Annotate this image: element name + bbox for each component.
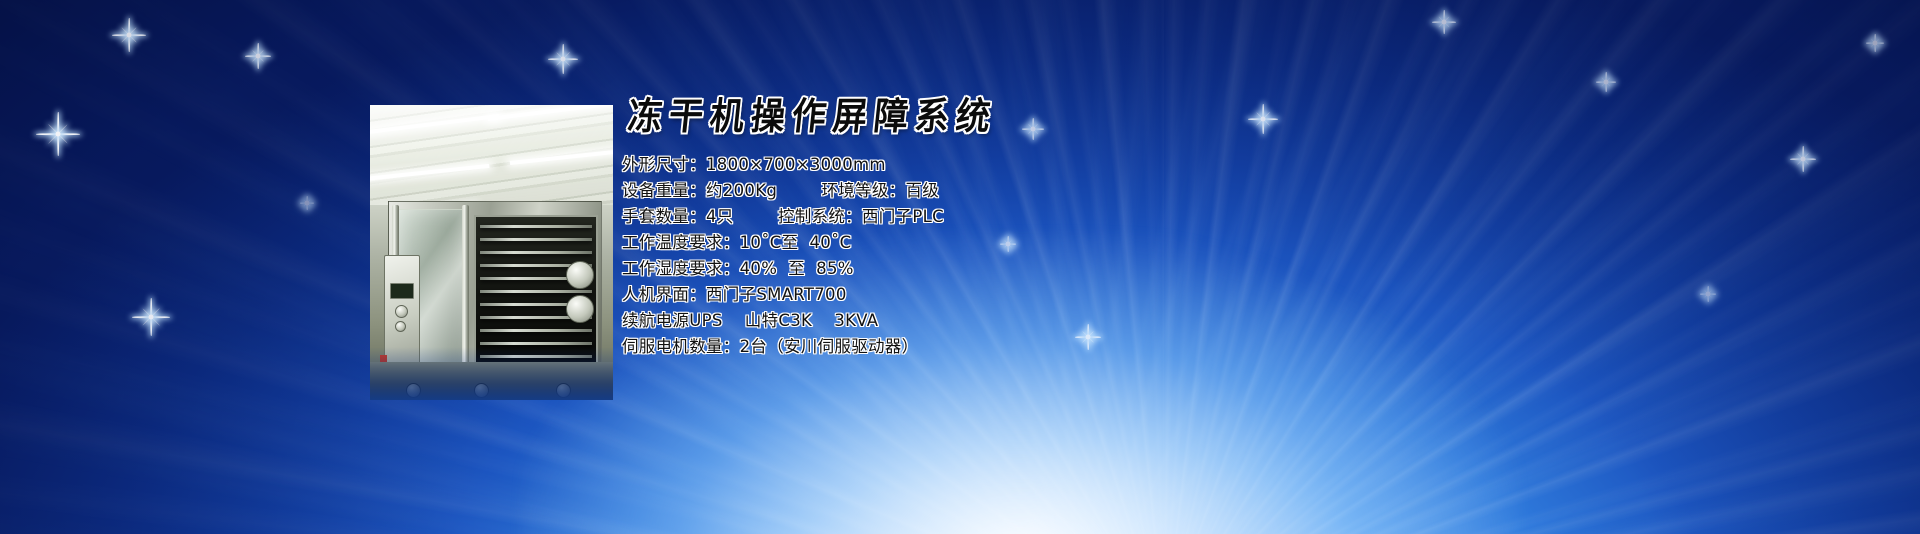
product-photo <box>370 105 613 400</box>
photo-control-knob <box>395 321 406 332</box>
photo-control-screen <box>390 283 414 299</box>
spec-list: 外形尺寸：1800×700×3000mm设备重量：约200Kg 环境等级：百级手… <box>622 152 1322 360</box>
spec-line-gloves-and-plc: 手套数量：4只 控制系统：西门子PLC <box>622 204 1322 230</box>
spec-line-weight-and-class: 设备重量：约200Kg 环境等级：百级 <box>622 178 1322 204</box>
photo-port-door <box>566 295 594 323</box>
photo-control-knob <box>395 305 408 318</box>
spec-line-servo-motors: 伺服电机数量：2台（安川伺服驱动器） <box>622 334 1322 360</box>
spec-line-hmi: 人机界面：西门子SMART700 <box>622 282 1322 308</box>
spec-line-temperature: 工作温度要求：10˚C至 40˚C <box>622 230 1322 256</box>
spec-line-dimensions: 外形尺寸：1800×700×3000mm <box>622 152 1322 178</box>
photo-shelf <box>480 329 593 332</box>
product-banner: 冻干机操作屏障系统 外形尺寸：1800×700×3000mm设备重量：约200K… <box>0 0 1920 534</box>
photo-shelf <box>480 290 593 293</box>
spec-line-ups: 续航电源UPS 山特C3K 3KVA <box>622 308 1322 334</box>
photo-shelf <box>480 238 593 241</box>
photo-bottom-fade <box>370 347 613 400</box>
photo-shelf <box>480 225 593 228</box>
spec-line-humidity: 工作湿度要求：40% 至 85% <box>622 256 1322 282</box>
text-block: 冻干机操作屏障系统 外形尺寸：1800×700×3000mm设备重量：约200K… <box>622 100 1322 360</box>
photo-port-door <box>566 261 594 289</box>
page-title: 冻干机操作屏障系统 <box>626 98 1324 135</box>
photo-shelf <box>480 342 593 345</box>
photo-shelf <box>480 251 593 254</box>
